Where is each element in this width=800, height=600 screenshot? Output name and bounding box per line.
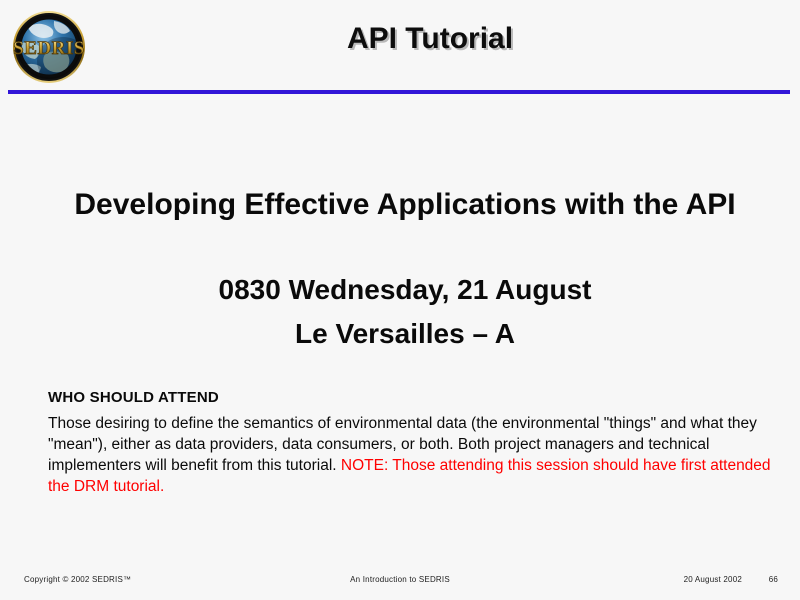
slide-header: SEDRIS API Tutorial: [0, 0, 800, 95]
session-time: 0830 Wednesday, 21 August: [60, 274, 750, 306]
slide-footer: Copyright © 2002 SEDRIS™ An Introduction…: [0, 570, 800, 600]
session-heading: Developing Effective Applications with t…: [60, 186, 750, 224]
audience-description: Those desiring to define the semantics o…: [48, 413, 786, 497]
slide: SEDRIS API Tutorial Developing Effective…: [0, 0, 800, 600]
sedris-globe-logo-icon: SEDRIS: [8, 9, 90, 85]
svg-text:SEDRIS: SEDRIS: [13, 38, 85, 59]
header-divider: [8, 90, 790, 94]
footer-deck-title: An Introduction to SEDRIS: [0, 575, 800, 584]
session-room: Le Versailles – A: [60, 318, 750, 350]
footer-date: 20 August 2002: [684, 575, 742, 584]
footer-page-number: 66: [769, 575, 778, 584]
page-title: API Tutorial: [100, 22, 760, 56]
section-label-who-should-attend: WHO SHOULD ATTEND: [48, 389, 786, 406]
audience-section: WHO SHOULD ATTEND Those desiring to defi…: [48, 389, 786, 497]
